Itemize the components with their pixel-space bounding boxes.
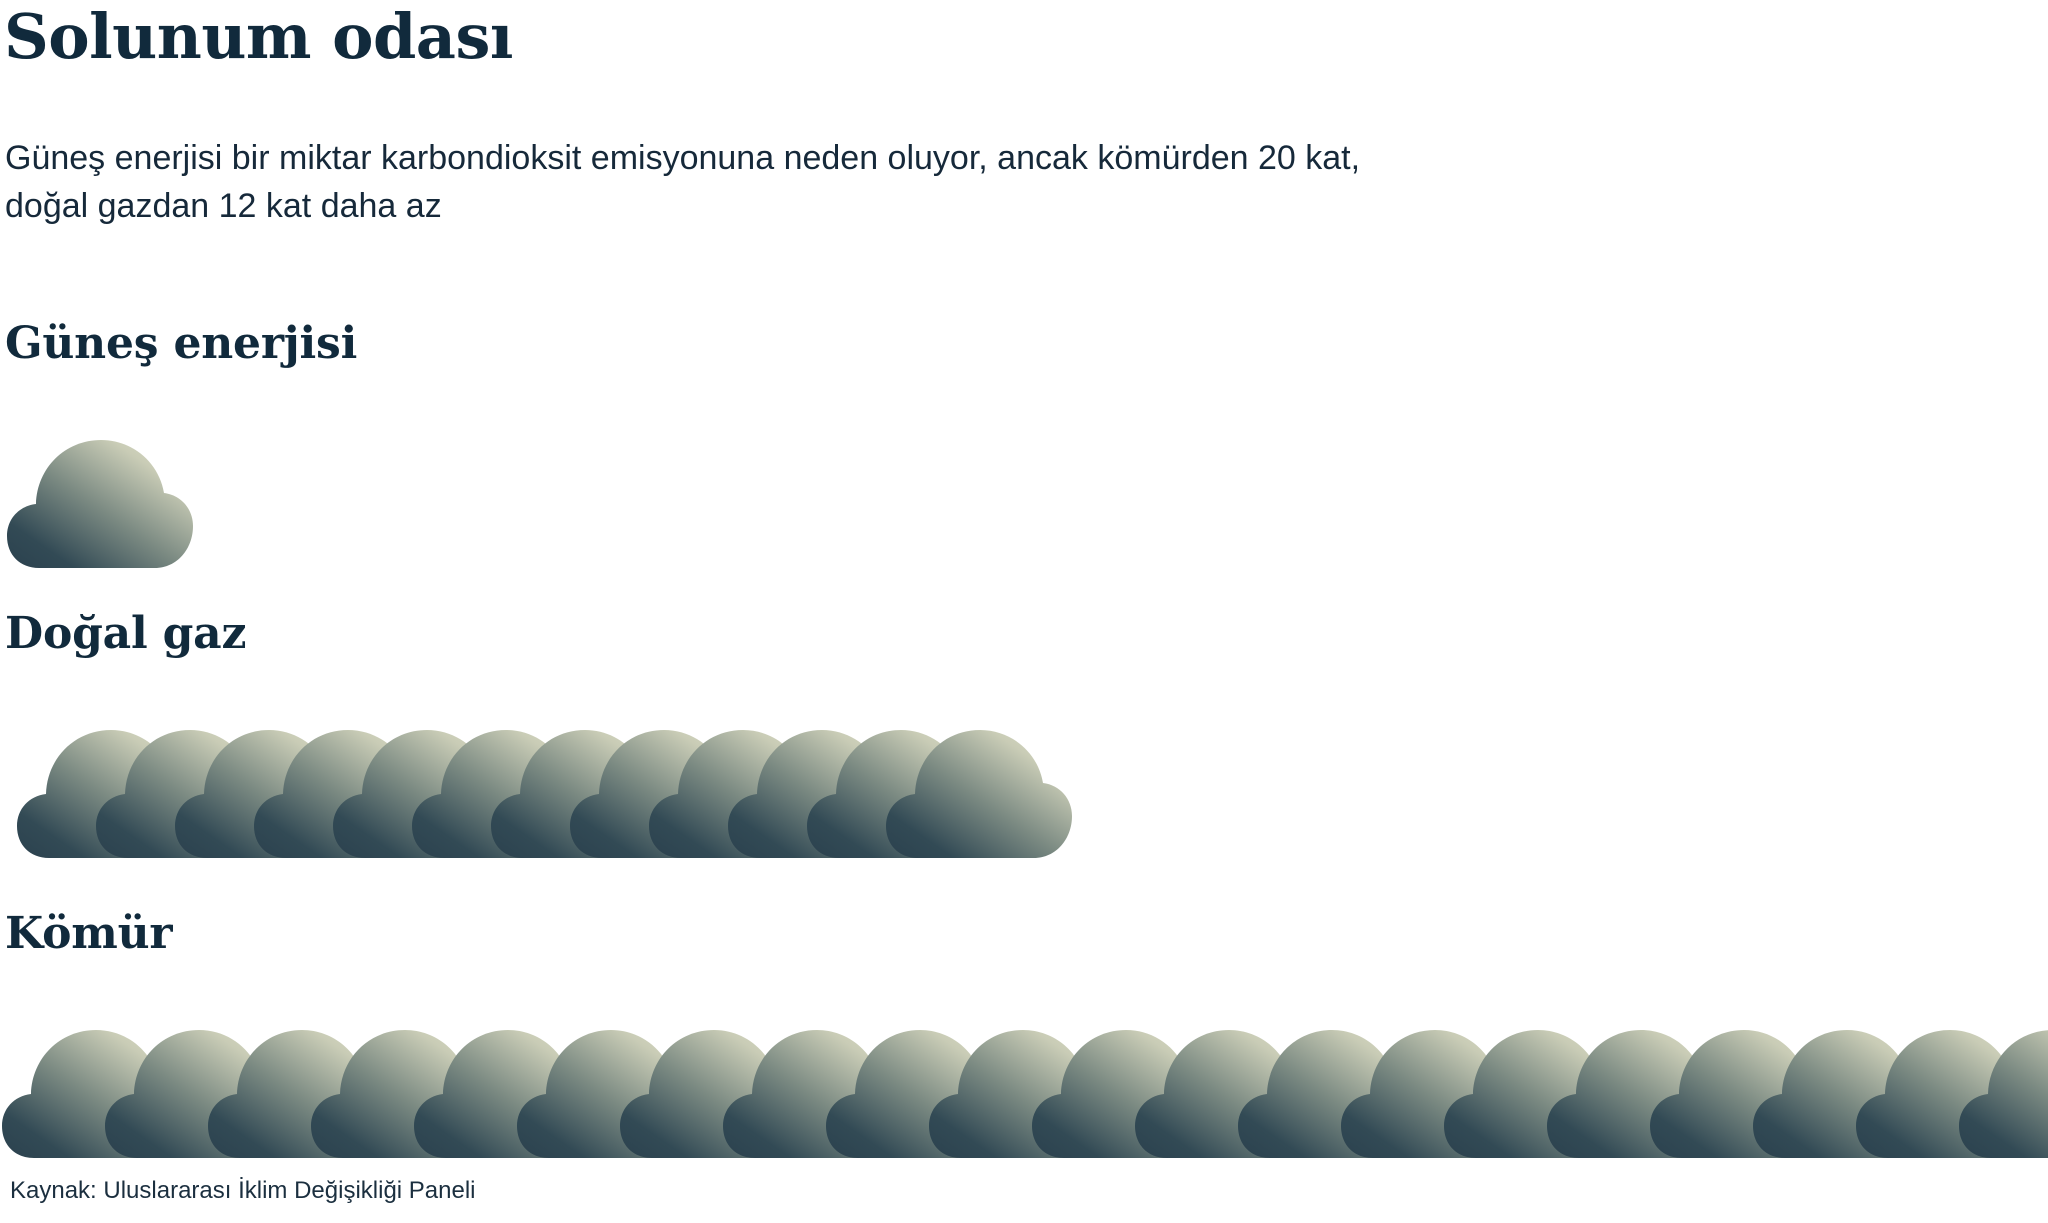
source-note: Kaynak: Uluslararası İklim Değişikliği P… bbox=[10, 1177, 476, 1206]
section-label-coal: Kömür bbox=[5, 912, 172, 956]
subtitle-line-1: Güneş enerjisi bir miktar karbondioksit … bbox=[5, 134, 1905, 182]
cloud-row-gas bbox=[0, 698, 2048, 858]
cloud-icon bbox=[884, 712, 1074, 858]
page-subtitle: Güneş enerjisi bir miktar karbondioksit … bbox=[5, 134, 1905, 231]
subtitle-line-2: doğal gazdan 12 kat daha az bbox=[5, 182, 1905, 230]
cloud-row-coal bbox=[0, 998, 2048, 1158]
cloud-icon bbox=[5, 422, 195, 568]
section-label-gas: Doğal gaz bbox=[5, 612, 246, 656]
cloud-icon bbox=[1957, 1012, 2048, 1158]
cloud-row-solar bbox=[0, 408, 2048, 568]
infographic-page: Solunum odası Güneş enerjisi bir miktar … bbox=[0, 0, 2048, 1223]
page-title: Solunum odası bbox=[4, 4, 513, 69]
section-label-solar: Güneş enerjisi bbox=[5, 322, 357, 366]
